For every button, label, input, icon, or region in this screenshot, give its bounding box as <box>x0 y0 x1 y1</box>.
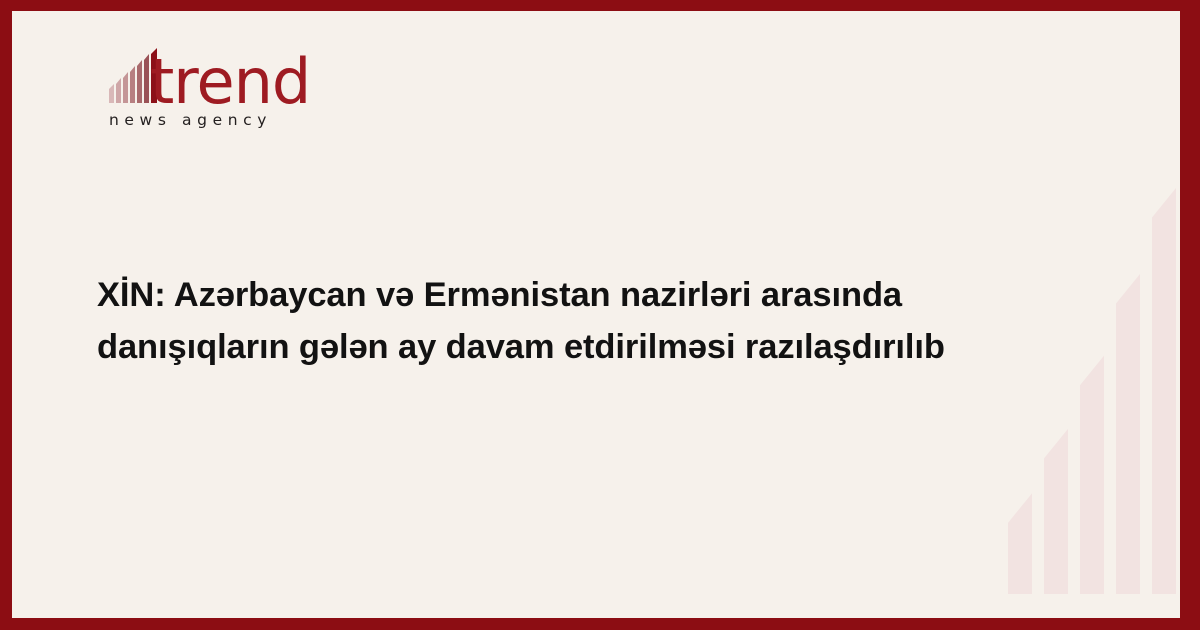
ascending-bars-watermark-icon <box>1008 164 1176 594</box>
watermark-bar <box>1044 426 1068 594</box>
watermark-bar <box>1152 186 1176 595</box>
svg-text:trend: trend <box>150 47 310 109</box>
trend-wordmark: trend <box>98 47 368 109</box>
trend-news-agency-logo[interactable]: trend news agency <box>98 47 398 139</box>
headline: XİN: Azərbaycan və Ermənistan nazirləri … <box>97 269 1002 373</box>
watermark-bar <box>1008 491 1032 594</box>
watermark-bar <box>1116 272 1140 595</box>
share-card: trend news agency XİN: Azərbaycan və Erm… <box>0 0 1200 630</box>
card-canvas: trend news agency XİN: Azərbaycan və Erm… <box>12 11 1180 618</box>
watermark-bar <box>1080 353 1104 594</box>
logo-tagline: news agency <box>109 111 272 129</box>
